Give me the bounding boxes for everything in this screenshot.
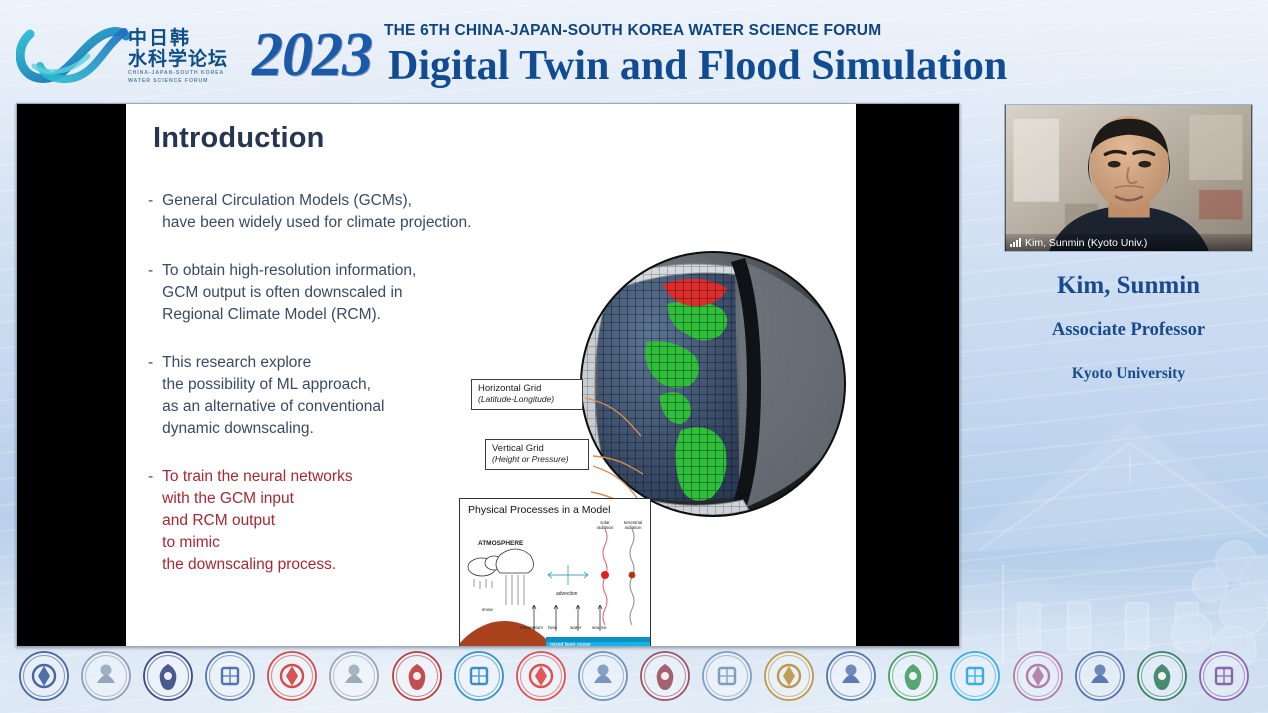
chungbuk-university-logo: CHUNGBUK UNIVERSITY xyxy=(825,650,877,702)
hunan-university-logo: 湖南大学 xyxy=(1012,650,1064,702)
callout-horizontal-grid: Horizontal Grid (Latitude-Longitude) xyxy=(471,379,583,410)
bullet-dash: - xyxy=(148,190,153,234)
svg-text:momentum: momentum xyxy=(520,625,543,630)
page-header: 中日韩 水科学论坛 CHINA-JAPAN-SOUTH KOREA WATER … xyxy=(0,0,1268,96)
bullet-text: To train the neural networks with the GC… xyxy=(162,466,352,576)
bullet-item-highlighted: - To train the neural networks with the … xyxy=(148,466,483,576)
peking-university-logo: PEKING UNIVERSITY 1898 xyxy=(391,650,443,702)
video-name-label: Kim, Sunmin (Kyoto Univ.) xyxy=(1005,234,1252,251)
sponsor-logo-strip: JILIN UNIVERSITY · CHINA 水利科研机构 IWHR KYU… xyxy=(0,645,1268,707)
tianjin-university-logo: 天津大学 xyxy=(701,650,753,702)
bullet-dash: - xyxy=(148,260,153,326)
slide-title: Introduction xyxy=(153,122,325,155)
brand-chinese-text: 中日韩 水科学论坛 xyxy=(128,28,228,71)
sichuan-university-logo: 四川大学 xyxy=(1074,650,1126,702)
wuhan-university-logo: 武汉大学 xyxy=(1136,650,1188,702)
jeonbuk-national-univ-logo: JEONBUK UNIVERSITY JBU xyxy=(763,650,815,702)
svg-text:water: water xyxy=(570,625,582,630)
svg-text:heat: heat xyxy=(548,625,558,630)
physical-processes-diagram-icon: ATMOSPHERE CONTINENT OCEAN mixed layer o… xyxy=(460,519,651,647)
brand-cn-line2: 水科学论坛 xyxy=(128,49,228,70)
hannam-university-logo: HAN NAM xyxy=(639,650,691,702)
callout-horizontal-grid-line1: Horizontal Grid xyxy=(478,383,576,394)
speaker-webcam-image xyxy=(1005,105,1252,251)
shared-slide-frame[interactable]: Introduction - General Circulation Model… xyxy=(16,103,960,647)
svg-text:sea ice: sea ice xyxy=(592,625,607,630)
speaker-role: Associate Professor xyxy=(1004,320,1253,341)
inset-title: Physical Processes in a Model xyxy=(468,504,610,516)
callout-vertical-grid-line2: (Height or Pressure) xyxy=(492,454,582,464)
slide-bullet-list: - General Circulation Models (GCMs), hav… xyxy=(148,190,483,602)
speaker-organization: Kyoto University xyxy=(1004,365,1253,383)
iwhr-logo: IWHR xyxy=(142,650,194,702)
brand-english-text: CHINA-JAPAN-SOUTH KOREA WATER SCIENCE FO… xyxy=(128,70,224,86)
forum-year: 2023 xyxy=(252,20,372,91)
nhri-logo: NHRI Since 1935 南京水利科学研究院 xyxy=(949,650,1001,702)
bullet-item: - General Circulation Models (GCMs), hav… xyxy=(148,190,483,234)
svg-text:ATMOSPHERE: ATMOSPHERE xyxy=(478,540,524,547)
brand-cn-line1: 中日韩 xyxy=(128,28,228,49)
chungnam-national-univ-logo: CHUNGNAM NATIONAL UNIVERSITY xyxy=(266,650,318,702)
kyoto-university-logo: KYOTO UNIVERSITY FOUNDED 1897 xyxy=(328,650,380,702)
noaa-climate-model-figure: Horizontal Grid (Latitude-Longitude) Ver… xyxy=(471,234,851,614)
callout-vertical-grid-line1: Vertical Grid xyxy=(492,443,582,454)
yonsei-university-logo: 연세대학교 xyxy=(515,650,567,702)
bullet-text: To obtain high-resolution information, G… xyxy=(162,260,416,326)
water-research-institute-logo: 水利科研机构 xyxy=(80,650,132,702)
svg-text:radiation: radiation xyxy=(597,525,614,530)
signal-bars-icon xyxy=(1010,238,1021,247)
jilin-university-logo: JILIN UNIVERSITY · CHINA xyxy=(18,650,70,702)
tsinghua-university-logo: 清华 xyxy=(887,650,939,702)
svg-text:advection: advection xyxy=(556,591,578,597)
bullet-text: This research explore the possibility of… xyxy=(162,352,384,440)
hohai-university-logo: 河海大学 xyxy=(453,650,505,702)
bullet-item: - To obtain high-resolution information,… xyxy=(148,260,483,326)
bullet-dash: - xyxy=(148,466,153,576)
bullet-item: - This research explore the possibility … xyxy=(148,352,483,440)
brand-en-line2: WATER SCIENCE FORUM xyxy=(128,78,224,86)
forum-subtitle: THE 6TH CHINA-JAPAN-SOUTH KOREA WATER SC… xyxy=(384,22,881,40)
speaker-name: Kim, Sunmin xyxy=(1004,272,1253,300)
svg-text:snow: snow xyxy=(482,607,493,612)
video-label-text: Kim, Sunmin (Kyoto Univ.) xyxy=(1025,237,1147,249)
zhejiang-university-logo: 浙江大学 xyxy=(1198,650,1250,702)
forum-title: Digital Twin and Flood Simulation xyxy=(388,42,1007,90)
bullet-dash: - xyxy=(148,352,153,440)
physical-processes-inset: Physical Processes in a Model ATMOSPHERE… xyxy=(459,498,651,647)
callout-vertical-grid: Vertical Grid (Height or Pressure) xyxy=(485,439,589,470)
background-building-watermark xyxy=(948,365,1268,665)
brand-en-line1: CHINA-JAPAN-SOUTH KOREA xyxy=(128,70,224,78)
svg-text:radiation: radiation xyxy=(625,525,642,530)
kyungpook-national-univ-logo: KYUNGPOOK NATIONAL UNIVERSITY xyxy=(204,650,256,702)
slide-page: Introduction - General Circulation Model… xyxy=(126,104,856,647)
callout-horizontal-grid-line2: (Latitude-Longitude) xyxy=(478,394,576,404)
mongolia-university-logo: МОНГОЛ УЛС xyxy=(577,650,629,702)
bullet-text: General Circulation Models (GCMs), have … xyxy=(162,190,471,234)
speaker-video-tile[interactable]: Kim, Sunmin (Kyoto Univ.) xyxy=(1004,104,1253,252)
